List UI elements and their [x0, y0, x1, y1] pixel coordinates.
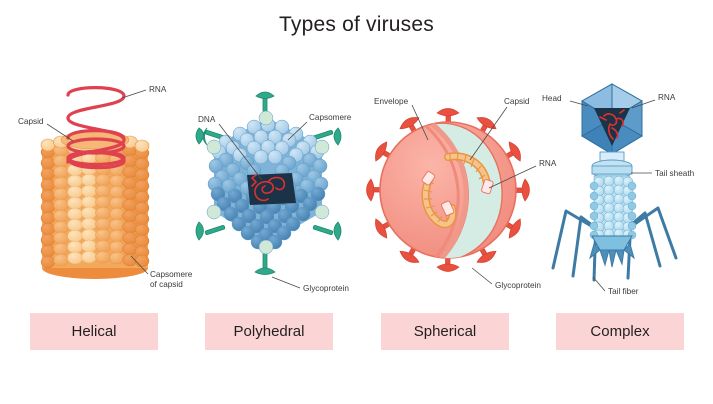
leader-rna: [122, 90, 146, 98]
label-spherical-capsid: Capsid: [504, 97, 530, 106]
label-helical-capsid: Capsid: [18, 117, 44, 126]
label-spherical-glycoprotein: Glycoprotein: [495, 281, 541, 290]
diagram-canvas: Types of viruses: [0, 0, 713, 404]
complex-neck: [592, 152, 632, 178]
label-helical-capsomere: Capsomere: [150, 270, 193, 279]
label-polyhedral-capsomere: Capsomere: [309, 113, 352, 122]
label-polyhedral-glycoprotein: Glycoprotein: [303, 284, 349, 293]
label-complex-tail-sheath: Tail sheath: [655, 169, 695, 178]
polyhedral-virus-illustration: DNA Capsomere Glycoprotein: [196, 92, 352, 293]
leader-glycoprotein: [472, 268, 492, 284]
complex-virus-illustration: Head RNA Tail sheath Tail fiber: [542, 84, 695, 296]
label-helical-rna: RNA: [149, 85, 167, 94]
label-complex-tail-fiber: Tail fiber: [608, 287, 639, 296]
leader-tail-fiber: [593, 277, 605, 291]
polyhedral-core-window: [247, 173, 296, 205]
complex-tail-sheath: [590, 176, 636, 240]
label-helical-capsomere-line2: of capsid: [150, 280, 183, 289]
label-spherical-envelope: Envelope: [374, 97, 409, 106]
caption-complex: Complex: [556, 313, 684, 350]
caption-helical: Helical: [30, 313, 158, 350]
label-complex-rna: RNA: [658, 93, 676, 102]
spherical-virus-illustration: Envelope Capsid RNA Glycoprotein: [367, 97, 557, 290]
complex-head: [582, 84, 642, 154]
label-spherical-rna: RNA: [539, 159, 557, 168]
leader-glycoprotein: [272, 277, 300, 288]
label-polyhedral-dna: DNA: [198, 115, 216, 124]
caption-polyhedral: Polyhedral: [205, 313, 333, 350]
helical-virus-illustration: RNA Capsid Capsomere of capsid: [18, 85, 193, 289]
caption-spherical: Spherical: [381, 313, 509, 350]
label-complex-head: Head: [542, 94, 562, 103]
